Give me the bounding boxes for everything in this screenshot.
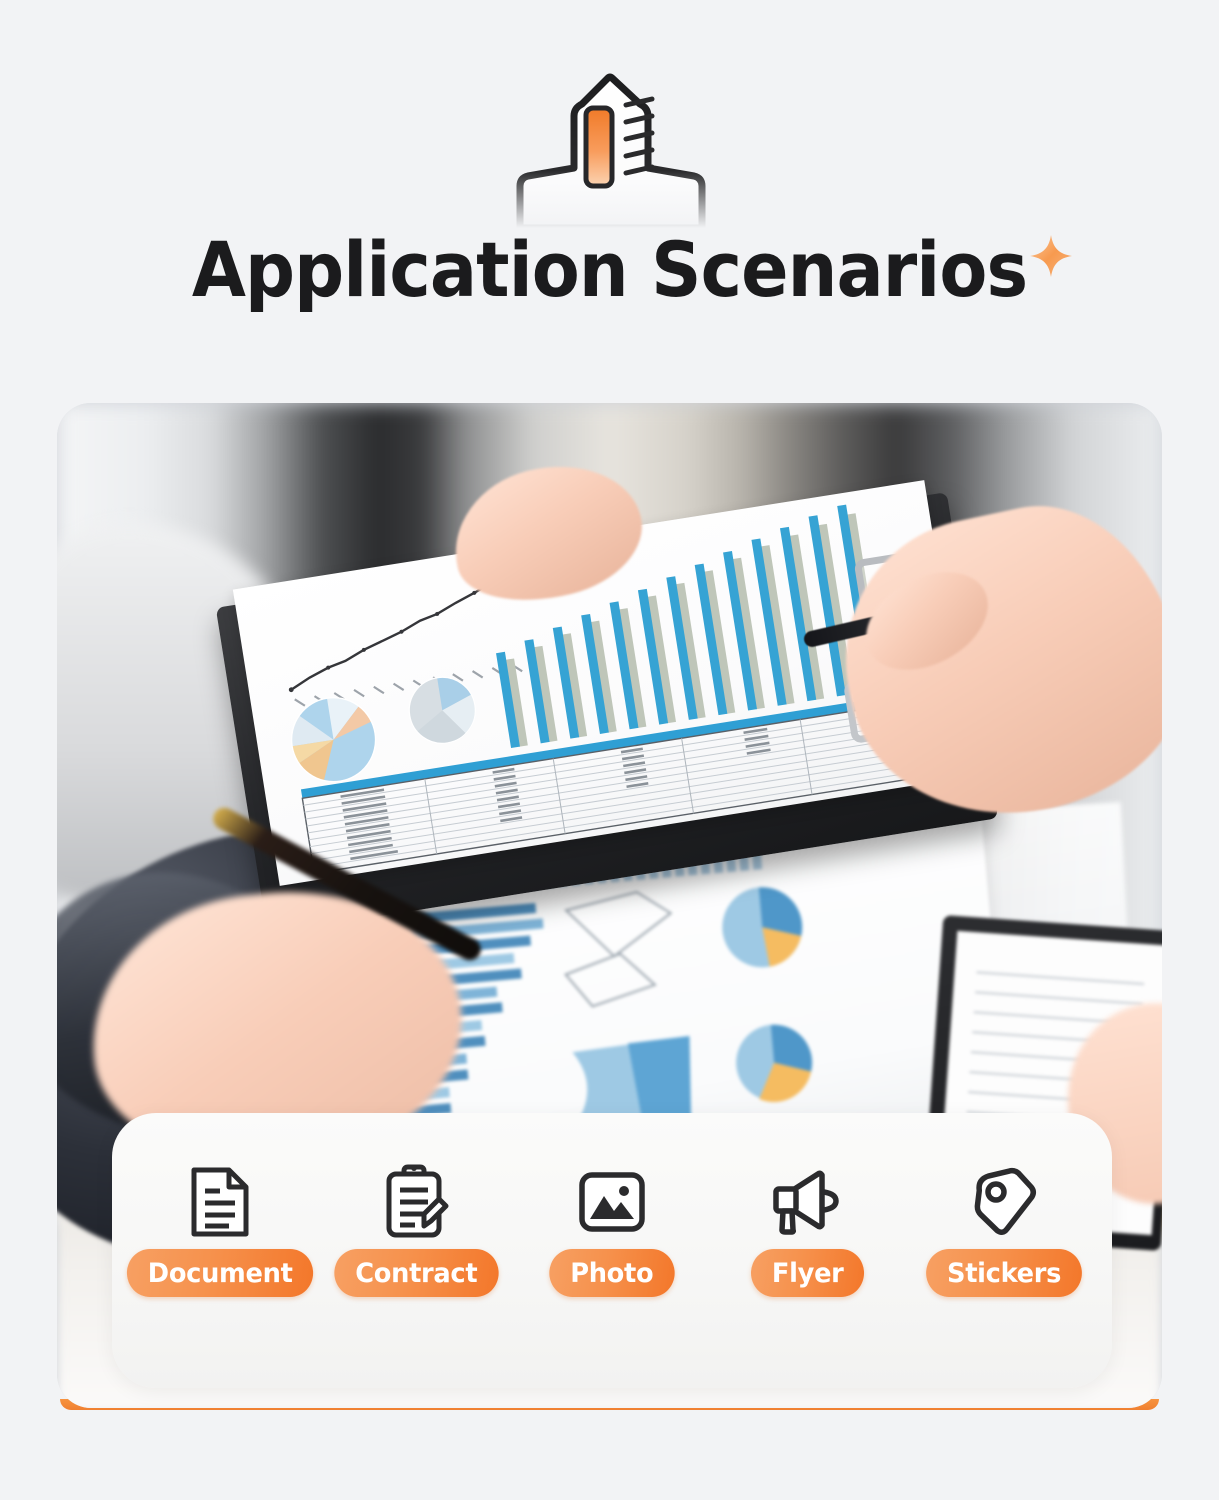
clipboard-pen-icon-wrap xyxy=(383,1163,449,1241)
image-picture-icon-wrap xyxy=(577,1163,647,1241)
scenarios-panel: Document Contract xyxy=(112,1113,1112,1388)
document-file-icon-wrap xyxy=(189,1163,251,1241)
scenario-pill-document[interactable]: Document xyxy=(127,1249,314,1297)
scenario-item-flyer[interactable]: Flyer xyxy=(723,1163,893,1297)
scenario-pill-contract[interactable]: Contract xyxy=(334,1249,498,1297)
document-file-icon xyxy=(189,1165,251,1239)
image-picture-icon xyxy=(577,1170,647,1234)
scenario-pill-photo[interactable]: Photo xyxy=(550,1249,675,1297)
report-pie-chart-1 xyxy=(286,692,382,788)
scenario-badge-row: Document Contract xyxy=(112,1163,1112,1297)
report-pie-chart-2 xyxy=(405,673,481,749)
scenario-item-stickers[interactable]: Stickers xyxy=(919,1163,1089,1297)
megaphone-icon xyxy=(771,1168,845,1236)
clipboard-pen-icon xyxy=(383,1164,449,1240)
office-building-icon-wrap xyxy=(0,60,1219,240)
megaphone-icon-wrap xyxy=(771,1163,845,1241)
price-tag-icon xyxy=(969,1167,1039,1237)
page-title: Application Scenarios xyxy=(49,232,1170,308)
scenario-item-photo[interactable]: Photo xyxy=(527,1163,697,1297)
page-header: Application Scenarios xyxy=(0,0,1219,390)
scenario-pill-stickers[interactable]: Stickers xyxy=(926,1249,1082,1297)
scenario-pill-flyer[interactable]: Flyer xyxy=(751,1249,864,1297)
scenario-item-document[interactable]: Document xyxy=(135,1163,305,1297)
scenario-item-contract[interactable]: Contract xyxy=(331,1163,501,1297)
office-building-icon xyxy=(500,60,720,240)
price-tag-icon-wrap xyxy=(969,1163,1039,1241)
sparkle-star-icon xyxy=(1027,232,1075,280)
